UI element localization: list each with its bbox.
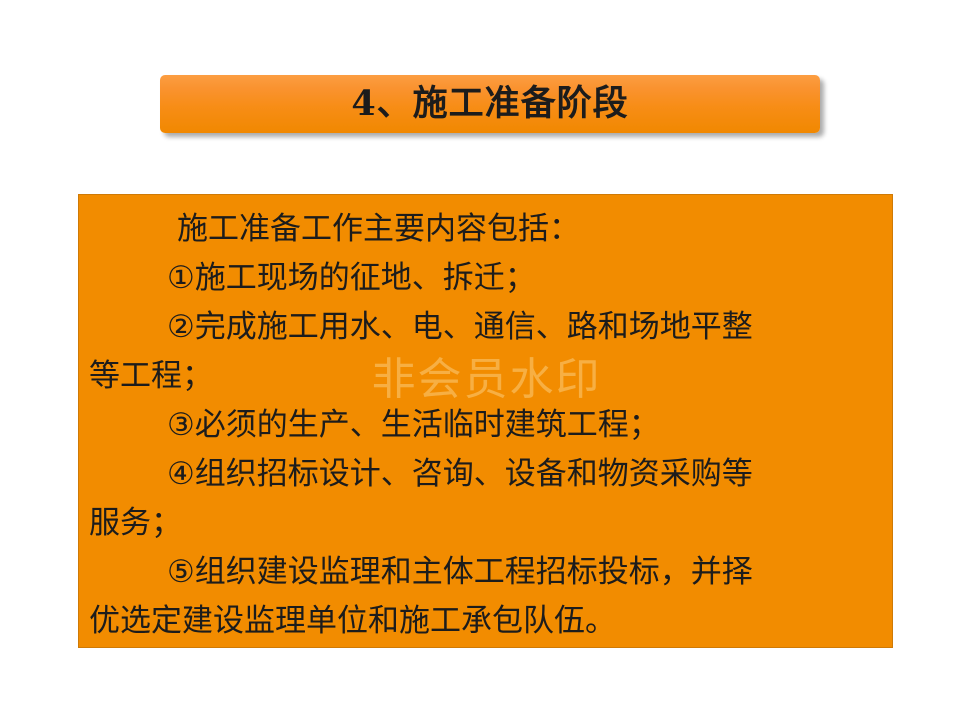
content-line: 等工程；	[89, 352, 888, 401]
content-line: 服务；	[89, 499, 888, 548]
content-line: ⑤组织建设监理和主体工程招标投标，并择	[89, 548, 888, 597]
content-line: ③必须的生产、生活临时建筑工程；	[89, 401, 888, 450]
content-line: 施工准备工作主要内容包括：	[89, 205, 888, 254]
slide-title-banner: 4、施工准备阶段	[160, 75, 820, 133]
content-line: ④组织招标设计、咨询、设备和物资采购等	[89, 450, 888, 499]
content-body: 施工准备工作主要内容包括： ①施工现场的征地、拆迁； ②完成施工用水、电、通信、…	[79, 205, 893, 646]
slide-canvas: 4、施工准备阶段 非会员水印 施工准备工作主要内容包括： ①施工现场的征地、拆迁…	[0, 0, 960, 720]
page-title: 4、施工准备阶段	[351, 86, 628, 123]
content-panel: 非会员水印 施工准备工作主要内容包括： ①施工现场的征地、拆迁； ②完成施工用水…	[78, 194, 893, 648]
content-line: 优选定建设监理单位和施工承包队伍。	[89, 597, 888, 646]
content-line: ①施工现场的征地、拆迁；	[89, 254, 888, 303]
content-line: ②完成施工用水、电、通信、路和场地平整	[89, 303, 888, 352]
